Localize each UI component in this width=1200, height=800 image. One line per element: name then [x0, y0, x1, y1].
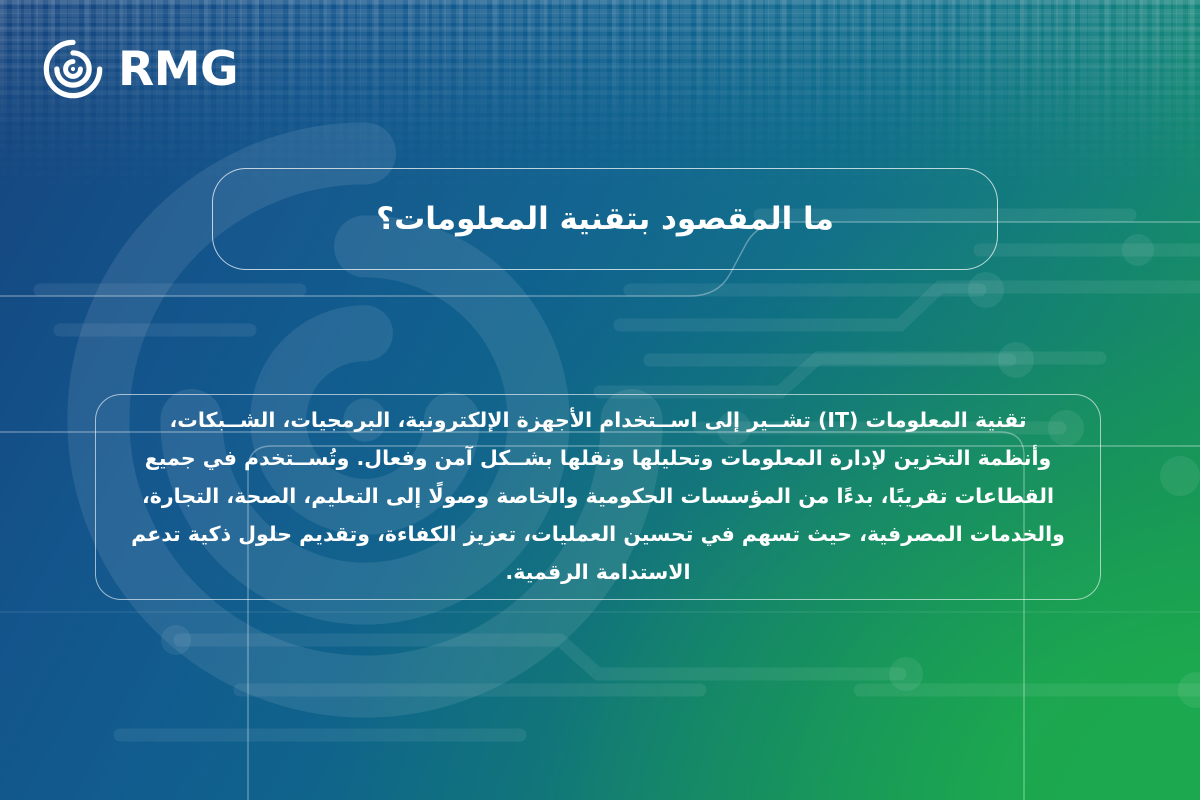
- brand-logo: RMG: [42, 38, 238, 100]
- body-card: تقنية المعلومات (IT) تشــير إلى اســتخدا…: [95, 394, 1101, 600]
- body-paragraph: تقنية المعلومات (IT) تشــير إلى اســتخدا…: [130, 402, 1066, 592]
- page-title: ما المقصود بتقنية المعلومات؟: [376, 200, 834, 239]
- poster-canvas: RMG ما المقصود بتقنية المعلومات؟ تقنية ا…: [0, 0, 1200, 800]
- brand-name-text: RMG: [118, 46, 238, 93]
- title-card: ما المقصود بتقنية المعلومات؟: [212, 168, 998, 270]
- rmg-spiral-logo-icon: [42, 38, 104, 100]
